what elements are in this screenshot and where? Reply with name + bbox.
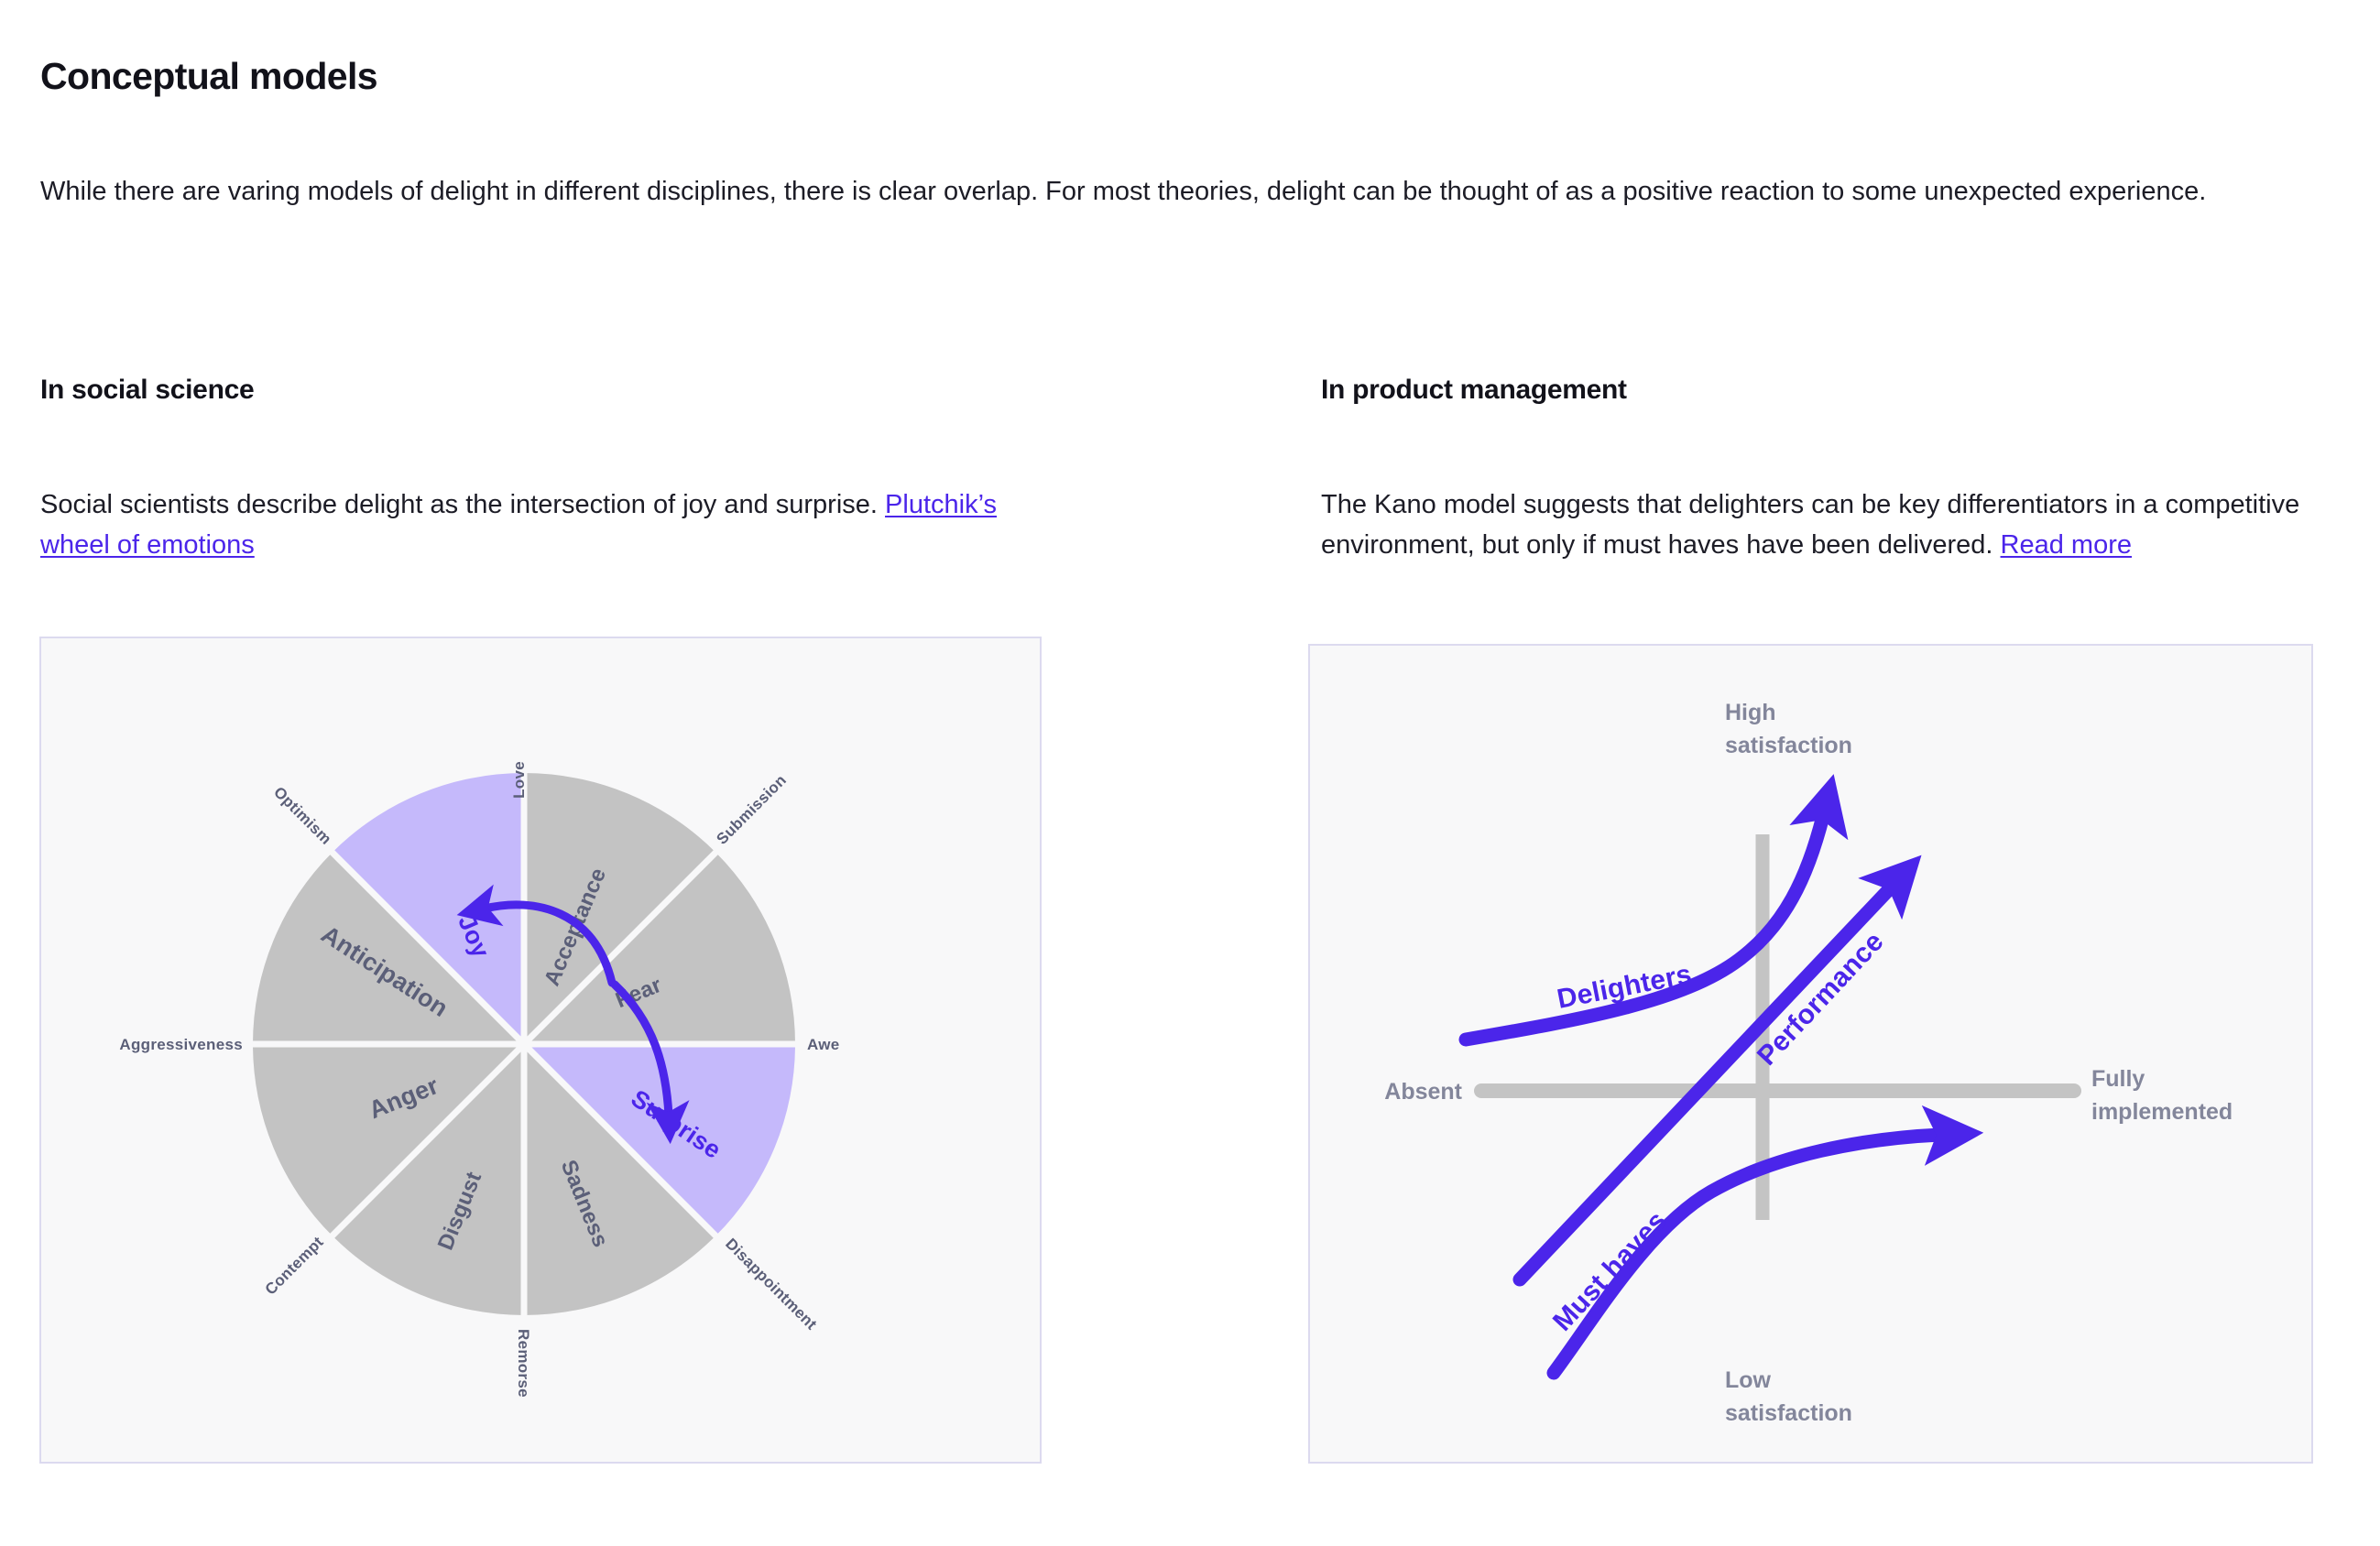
spoke-label-aggressiveness: Aggressiveness [119, 1036, 243, 1053]
intro-paragraph: While there are varing models of delight… [40, 171, 2257, 212]
page-title: Conceptual models [40, 55, 377, 98]
social-science-paragraph: Social scientists describe delight as th… [40, 484, 1030, 565]
svg-text:Fully implemented: Fully implemented [2091, 1066, 2233, 1125]
spoke-label-remorse: Remorse [515, 1329, 532, 1398]
kano-curve-labels: Delighters Performance Must haves [1547, 927, 1890, 1337]
kano-label-high-line1: High [1725, 700, 1776, 725]
read-more-link[interactable]: Read more [2001, 530, 2132, 560]
product-management-paragraph: The Kano model suggests that delighters … [1321, 484, 2310, 565]
social-science-text: Social scientists describe delight as th… [40, 490, 885, 519]
kano-label-high-line2: satisfaction [1725, 733, 1852, 758]
spoke-label-submission: Submission [713, 771, 790, 848]
kano-label-absent: Absent [1384, 1079, 1462, 1105]
kano-axis-labels: High satisfaction Low satisfaction Absen… [1384, 700, 2233, 1426]
spoke-label-awe: Awe [807, 1036, 840, 1053]
kano-label-low-line2: satisfaction [1725, 1400, 1852, 1426]
kano-curve-performance [1520, 887, 1892, 1279]
kano-label-implemented-line2: implemented [2091, 1099, 2233, 1125]
spoke-label-love: Love [510, 761, 528, 799]
kano-curve-label-performance: Performance [1752, 927, 1890, 1072]
kano-label-fully-line1: Fully [2091, 1066, 2145, 1092]
plutchik-wheel-figure: Love Submission Awe Disappointment Remor… [39, 637, 1042, 1464]
kano-label-low-line1: Low [1725, 1367, 1772, 1393]
svg-text:Low satisfaction: Low satisfaction [1725, 1367, 1852, 1426]
section-heading-product-management: In product management [1321, 375, 1627, 406]
spoke-label-contempt: Contempt [262, 1233, 327, 1298]
spoke-label-optimism: Optimism [270, 783, 335, 848]
kano-model-figure: High satisfaction Low satisfaction Absen… [1308, 644, 2313, 1464]
product-management-text: The Kano model suggests that delighters … [1321, 490, 2299, 560]
spoke-label-disappointment: Disappointment [722, 1235, 820, 1333]
svg-text:High satisfaction: High satisfaction [1725, 700, 1852, 758]
section-heading-social-science: In social science [40, 375, 254, 406]
page-root: Conceptual models While there are varing… [0, 0, 2380, 1546]
